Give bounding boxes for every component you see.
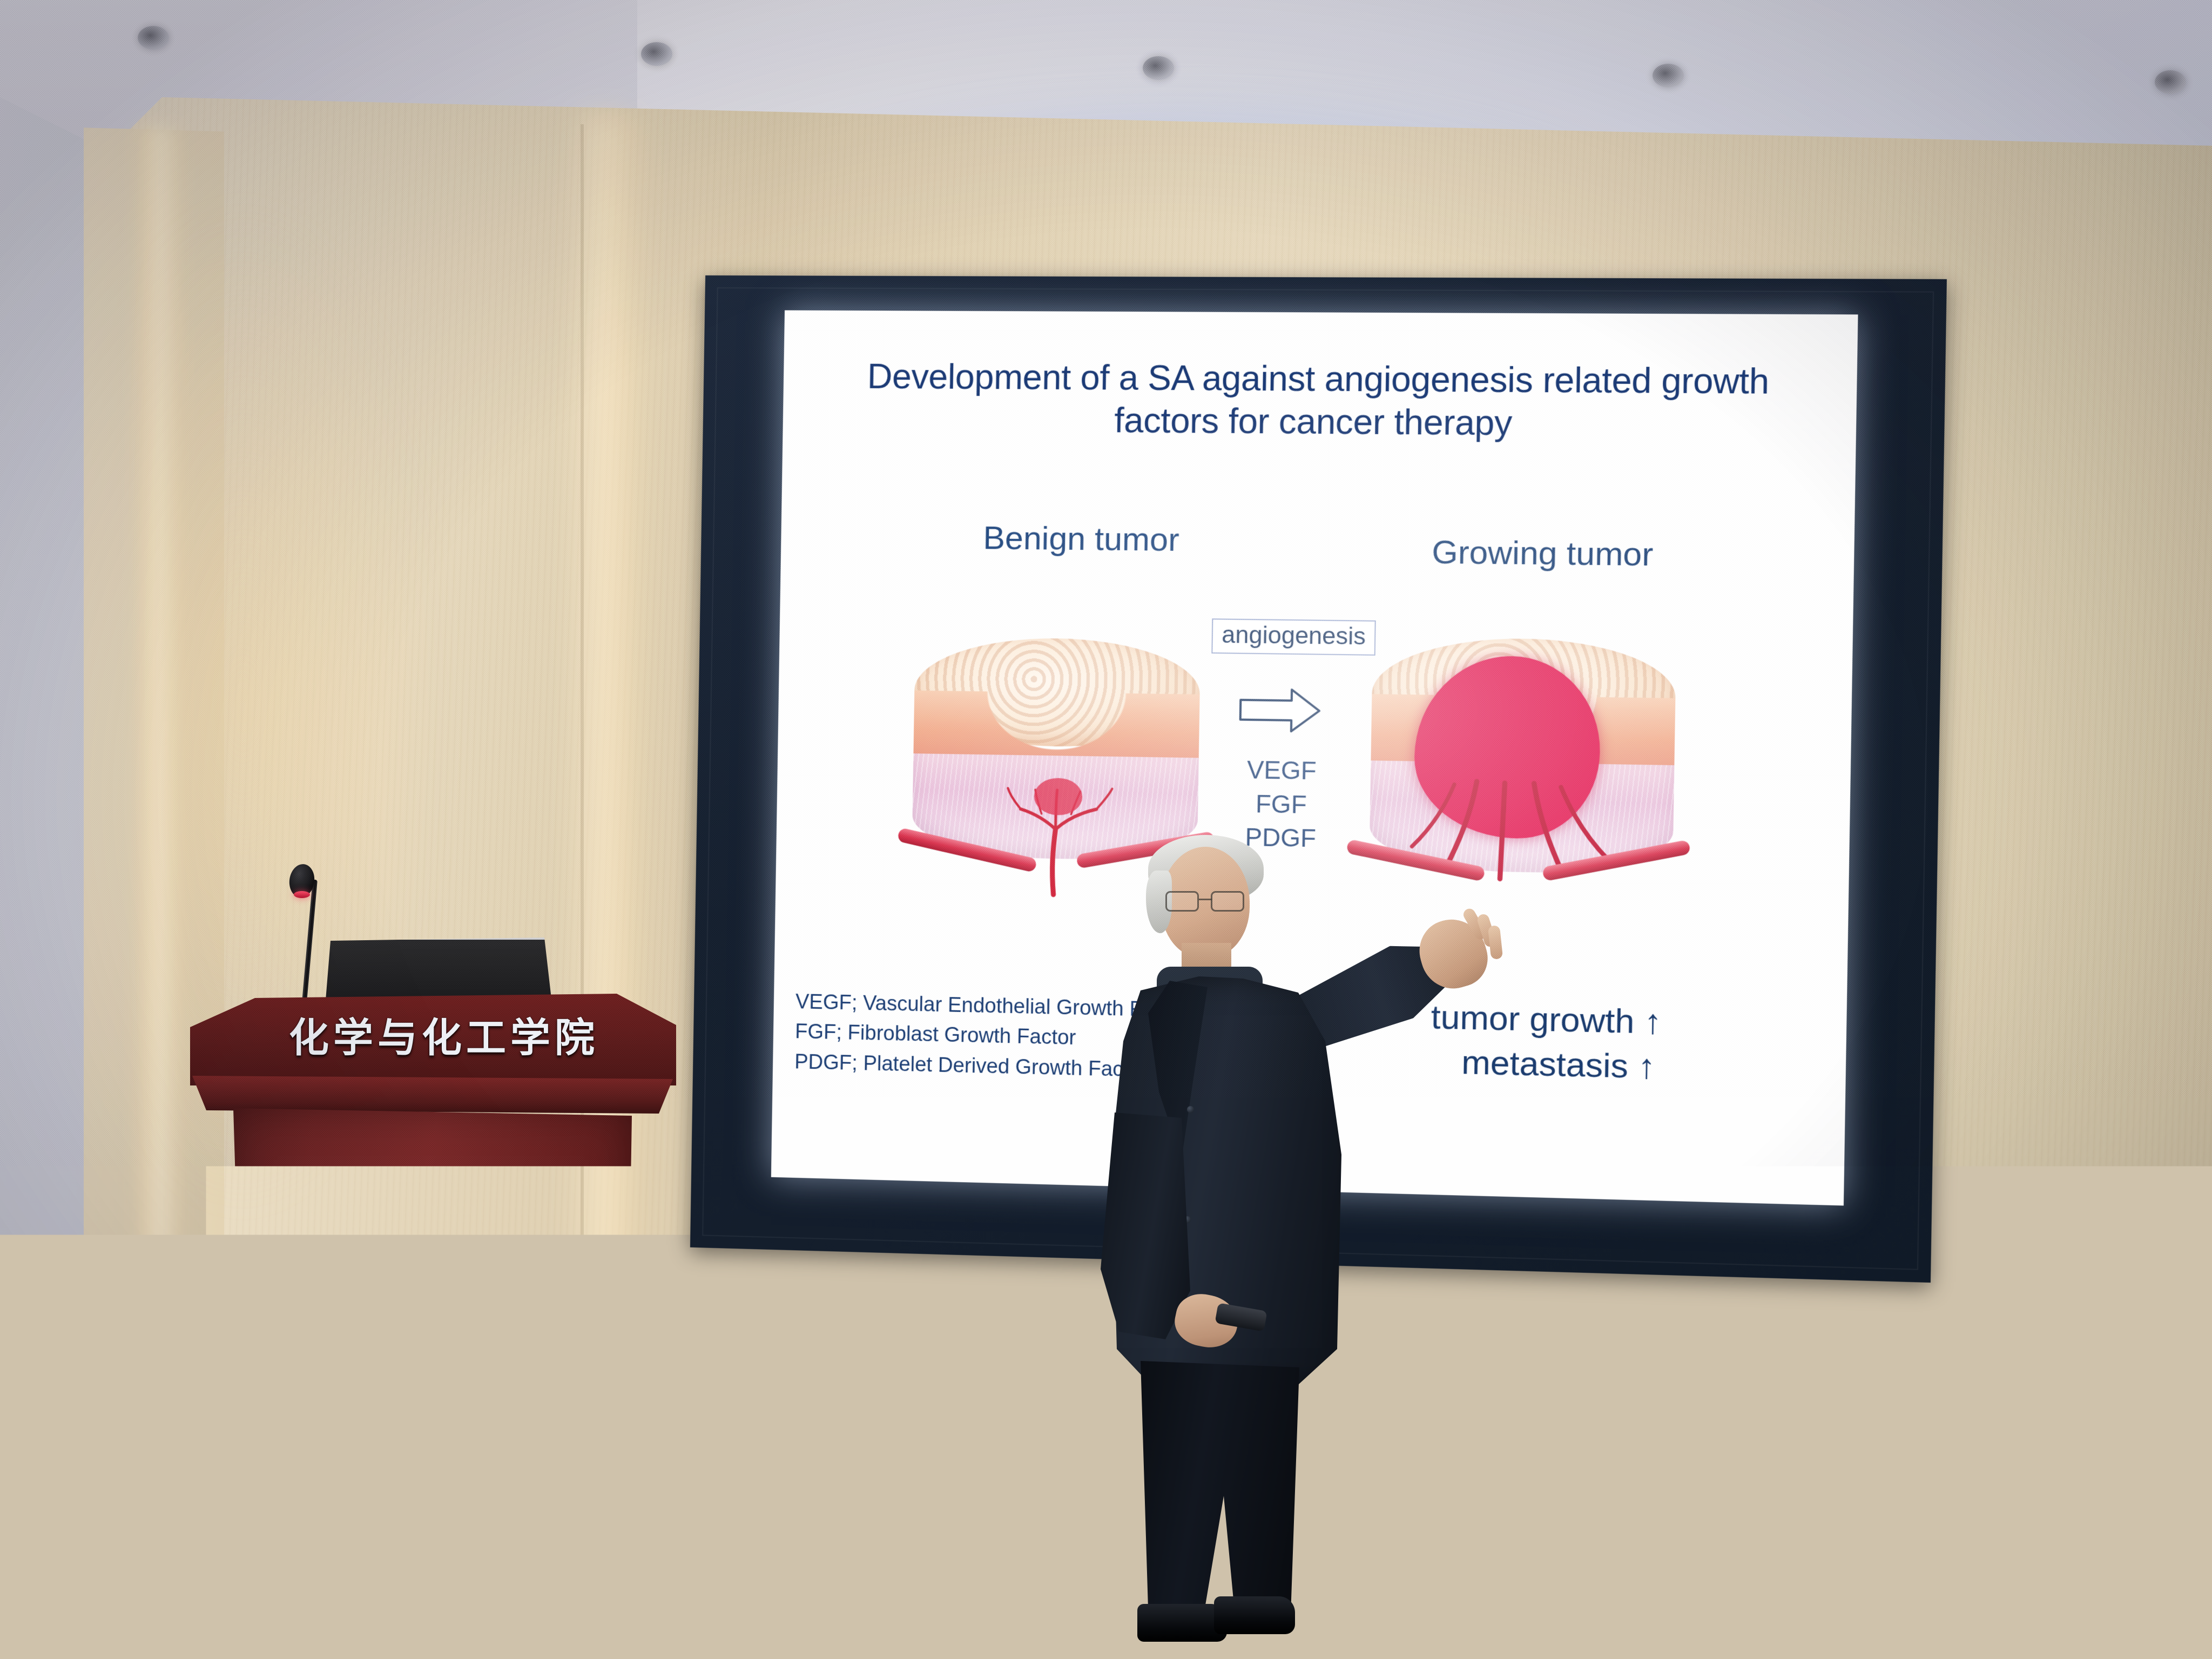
slide-title-line-2: factors for cancer therapy — [804, 397, 1833, 447]
emblem-core-disc — [329, 1313, 426, 1410]
speaker — [1042, 832, 1388, 1659]
growing-tumor-illustration — [1369, 637, 1676, 889]
downlight-icon — [1143, 56, 1174, 80]
angiogenesis-label: angiogenesis — [1222, 622, 1366, 650]
slide-title: Development of a SA against angiogenesis… — [804, 355, 1834, 447]
podium-lip — [178, 1076, 686, 1114]
growing-tumor-heading: Growing tumor — [1363, 532, 1723, 574]
slide-title-line-1: Development of a SA against angiogenesis… — [805, 355, 1835, 403]
podium: 化学与化工学院 北京理工大学 BEIJING INSTITUTE O — [178, 994, 680, 1658]
growth-factor-item: FGF — [1198, 786, 1365, 823]
downlight-icon — [641, 42, 672, 66]
downlight-icon — [138, 26, 169, 50]
stage-edge — [567, 1631, 2212, 1659]
tumor-vasculature-icon — [1391, 774, 1651, 906]
podium-department-label: 化学与化工学院 — [228, 1006, 660, 1063]
downlight-icon — [1653, 64, 1684, 87]
benign-tumor-heading: Benign tumor — [916, 518, 1246, 559]
microphone-indicator-ring — [294, 891, 310, 898]
growth-factor-item: VEGF — [1198, 752, 1365, 788]
jacket-button — [1187, 1106, 1194, 1113]
eyeglasses-icon — [1165, 891, 1250, 913]
downlight-icon — [2155, 70, 2186, 94]
pine-tree-dove-icon — [344, 1337, 411, 1401]
speaker-shoe — [1214, 1596, 1295, 1634]
eyeglass-lens-left — [1165, 891, 1199, 912]
eyeglass-lens-right — [1211, 891, 1244, 912]
university-emblem: 北京理工大学 BEIJING INSTITUTE OF TECHNOLOGY — [306, 1290, 449, 1433]
lecture-hall-scene: Development of a SA against angiogenesis… — [0, 0, 2212, 1659]
emblem-english-text: BEIJING INSTITUTE OF TECHNOLOGY — [306, 1412, 449, 1427]
speaker-trousers — [1129, 1361, 1308, 1615]
emblem-chinese-text: 北京理工大学 — [306, 1297, 449, 1311]
right-arrow-icon — [1238, 685, 1322, 737]
eyeglass-bridge — [1199, 899, 1212, 900]
podium-top-panel: 化学与化工学院 — [190, 994, 676, 1085]
angiogenesis-label-box: angiogenesis — [1211, 618, 1376, 656]
